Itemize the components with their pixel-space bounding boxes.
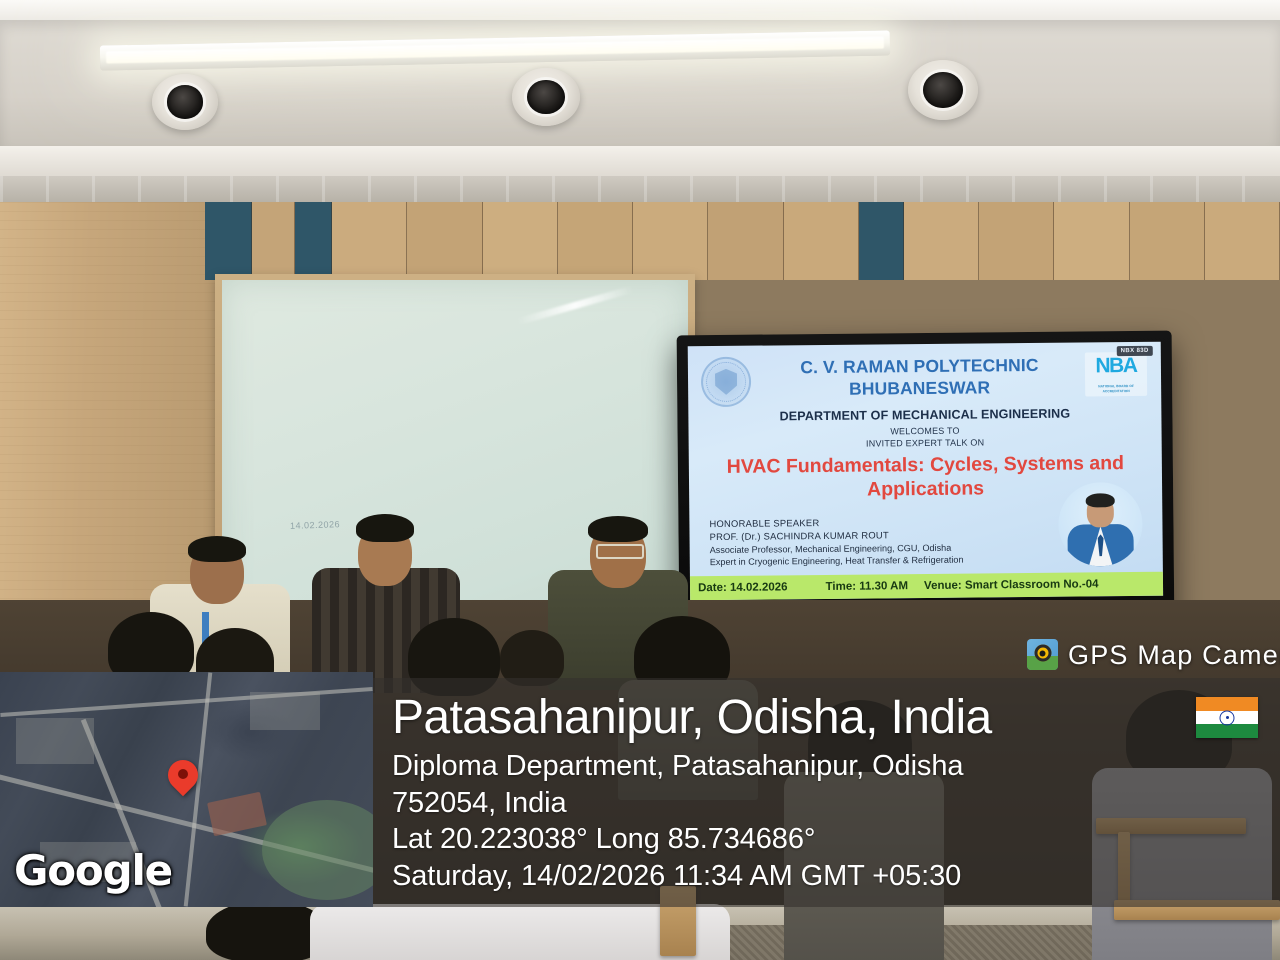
map-block-2 xyxy=(250,692,320,730)
google-watermark: Google xyxy=(14,846,172,895)
college-seal-icon xyxy=(701,357,751,407)
photo-screenshot: 14.02.2026 N xyxy=(0,0,1280,960)
wall-slats-upper xyxy=(205,202,1280,280)
map-block-1 xyxy=(16,718,94,764)
speaker-portrait xyxy=(1058,482,1143,567)
ceiling-lip xyxy=(0,146,1280,178)
slide-date: Date: 14.02.2026 xyxy=(698,581,788,594)
tv-osd-badge: NBX 83D xyxy=(1117,346,1153,356)
slide-invited: INVITED EXPERT TALK ON xyxy=(709,436,1142,450)
overlay-timestamp: Saturday, 14/02/2026 11:34 AM GMT +05:30 xyxy=(392,860,961,893)
slide-institution: C. V. RAMAN POLYTECHNIC BHUBANESWAR xyxy=(748,354,1091,401)
speaker-name: PROF. (Dr.) SACHINDRA KUMAR ROUT xyxy=(709,528,999,542)
institution-line-2: BHUBANESWAR xyxy=(849,377,990,398)
slide-speaker-block: HONORABLE SPEAKER PROF. (Dr.) SACHINDRA … xyxy=(709,515,999,567)
gps-map-camera-icon xyxy=(1027,639,1058,670)
nba-logo-subtext: NATIONAL BOARD OF ACCREDITATION xyxy=(1085,384,1147,393)
whiteboard-note: 14.02.2026 xyxy=(290,519,340,531)
overlay-address-line-2: 752054, India xyxy=(392,787,566,820)
speaker-label: HONORABLE SPEAKER xyxy=(709,515,999,529)
map-location-pin xyxy=(168,760,198,790)
speaker-affiliation: Associate Professor, Mechanical Engineer… xyxy=(710,542,1000,555)
institution-line-1: C. V. RAMAN POLYTECHNIC xyxy=(800,355,1038,377)
ceiling-speaker-2 xyxy=(512,68,580,126)
slide-screen: NBA NATIONAL BOARD OF ACCREDITATION NBX … xyxy=(688,342,1163,601)
speaker-expertise: Expert in Cryogenic Engineering, Heat Tr… xyxy=(710,554,1000,567)
slide-time: Time: 11.30 AM xyxy=(825,580,908,593)
ceiling-speaker-3 xyxy=(908,60,978,120)
ceiling xyxy=(0,0,1280,205)
slide-venue: Venue: Smart Classroom No.-04 xyxy=(924,578,1099,592)
overlay-address-line-1: Diploma Department, Patasahanipur, Odish… xyxy=(392,750,963,783)
india-flag-icon xyxy=(1196,697,1258,738)
ceiling-speaker-1 xyxy=(152,74,218,130)
overlay-coordinates: Lat 20.223038° Long 85.734686° xyxy=(392,823,815,856)
ashoka-chakra-icon xyxy=(1220,710,1235,725)
nba-logo-text: NBA xyxy=(1085,355,1147,377)
slide-department: DEPARTMENT OF MECHANICAL ENGINEERING xyxy=(708,406,1141,424)
television-display[interactable]: NBA NATIONAL BOARD OF ACCREDITATION NBX … xyxy=(677,331,1175,628)
overlay-place: Patasahanipur, Odisha, India xyxy=(392,690,992,745)
nba-accreditation-logo: NBA NATIONAL BOARD OF ACCREDITATION xyxy=(1085,352,1147,397)
slide-info-banner: Date: 14.02.2026 Time: 11.30 AM Venue: S… xyxy=(690,572,1163,601)
gps-map-camera-label: GPS Map Camera xyxy=(1068,640,1280,671)
